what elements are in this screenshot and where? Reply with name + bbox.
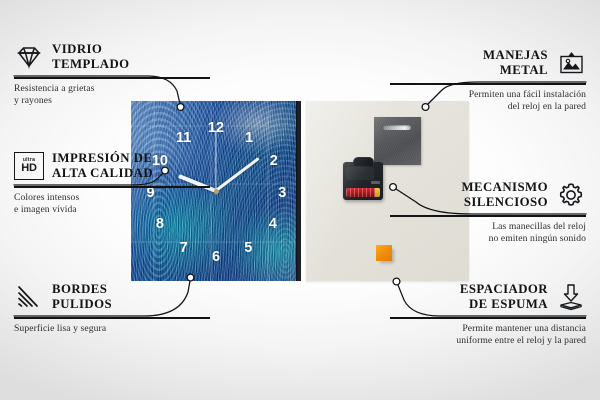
clock-numeral-2: 2	[270, 154, 278, 169]
clock-numeral-4: 4	[269, 217, 277, 232]
foam-spacer	[376, 245, 392, 261]
feature-vidrio-templado: VIDRIOTEMPLADO Resistencia a grietas y r…	[14, 40, 210, 108]
ultra-hd-icon: ultra HD	[14, 151, 44, 181]
feature-header: ultra HD IMPRESIÓN DEALTA CALIDAD	[14, 149, 210, 183]
feature-title: VIDRIOTEMPLADO	[52, 42, 130, 72]
glass-edge	[296, 101, 301, 281]
feature-divider	[390, 317, 586, 319]
feature-title: BORDESPULIDOS	[52, 282, 112, 312]
mechanism-hanging-loop	[353, 157, 374, 166]
metal-hanger-plate	[374, 117, 421, 165]
feature-description: Las manecillas del reloj no emiten ningú…	[390, 221, 586, 247]
diagonal-stripes-icon	[14, 282, 44, 312]
feature-impresion-alta-calidad: ultra HD IMPRESIÓN DEALTA CALIDAD Colore…	[14, 149, 210, 217]
mechanism-housing-detail	[346, 167, 374, 180]
clock-numeral-1: 1	[245, 131, 253, 146]
feature-mecanismo-silencioso: MECANISMOSILENCIOSO Las manecillas del r…	[390, 178, 586, 246]
feature-description: Permite mantener una distancia uniforme …	[390, 323, 586, 349]
diamond-icon	[14, 42, 44, 72]
feature-divider	[14, 317, 210, 319]
feature-title: MANEJASMETAL	[483, 48, 548, 78]
arrow-onto-pad-icon	[556, 282, 586, 312]
clock-numeral-5: 5	[244, 240, 252, 255]
hanging-picture-frame-icon	[556, 48, 586, 78]
mechanism-shaft-detail	[371, 181, 380, 184]
infographic-canvas: 12 1 2 3 4 5 6 7 8 9 10 11	[0, 0, 600, 400]
ultra-hd-icon-main-text: HD	[21, 163, 37, 174]
battery-terminal	[375, 188, 380, 197]
clock-numeral-6: 6	[212, 249, 220, 264]
feature-divider	[390, 83, 586, 85]
feature-description: Superficie lisa y segura	[14, 323, 210, 336]
feature-description: Resistencia a grietas y rayones	[14, 83, 210, 109]
feature-bordes-pulidos: BORDESPULIDOS Superficie lisa y segura	[14, 280, 210, 335]
quartz-mechanism	[343, 162, 383, 200]
clock-numeral-11: 11	[176, 131, 191, 146]
feature-description: Colores intensos e imagen vívida	[14, 192, 210, 218]
gear-icon	[556, 180, 586, 210]
feature-header: MECANISMOSILENCIOSO	[390, 178, 586, 212]
feature-divider	[14, 77, 210, 79]
battery-compartment	[346, 188, 380, 197]
feature-description: Permiten una fácil instalación del reloj…	[390, 89, 586, 115]
feature-header: ESPACIADORDE ESPUMA	[390, 280, 586, 314]
clock-numeral-8: 8	[156, 217, 164, 232]
feature-title: ESPACIADORDE ESPUMA	[460, 282, 548, 312]
clock-numeral-3: 3	[278, 186, 286, 201]
clock-numeral-7: 7	[180, 240, 188, 255]
feature-header: BORDESPULIDOS	[14, 280, 210, 314]
feature-header: MANEJASMETAL	[390, 46, 586, 80]
feature-header: VIDRIOTEMPLADO	[14, 40, 210, 74]
feature-divider	[14, 186, 210, 188]
feature-espaciador-de-espuma: ESPACIADORDE ESPUMA Permite mantener una…	[390, 280, 586, 348]
feature-divider	[390, 215, 586, 217]
clock-center-cap	[214, 189, 219, 194]
feature-manejas-metal: MANEJASMETAL Permiten una fácil instalac…	[390, 46, 586, 114]
feature-title: MECANISMOSILENCIOSO	[461, 180, 548, 210]
feature-title: IMPRESIÓN DEALTA CALIDAD	[52, 151, 153, 181]
